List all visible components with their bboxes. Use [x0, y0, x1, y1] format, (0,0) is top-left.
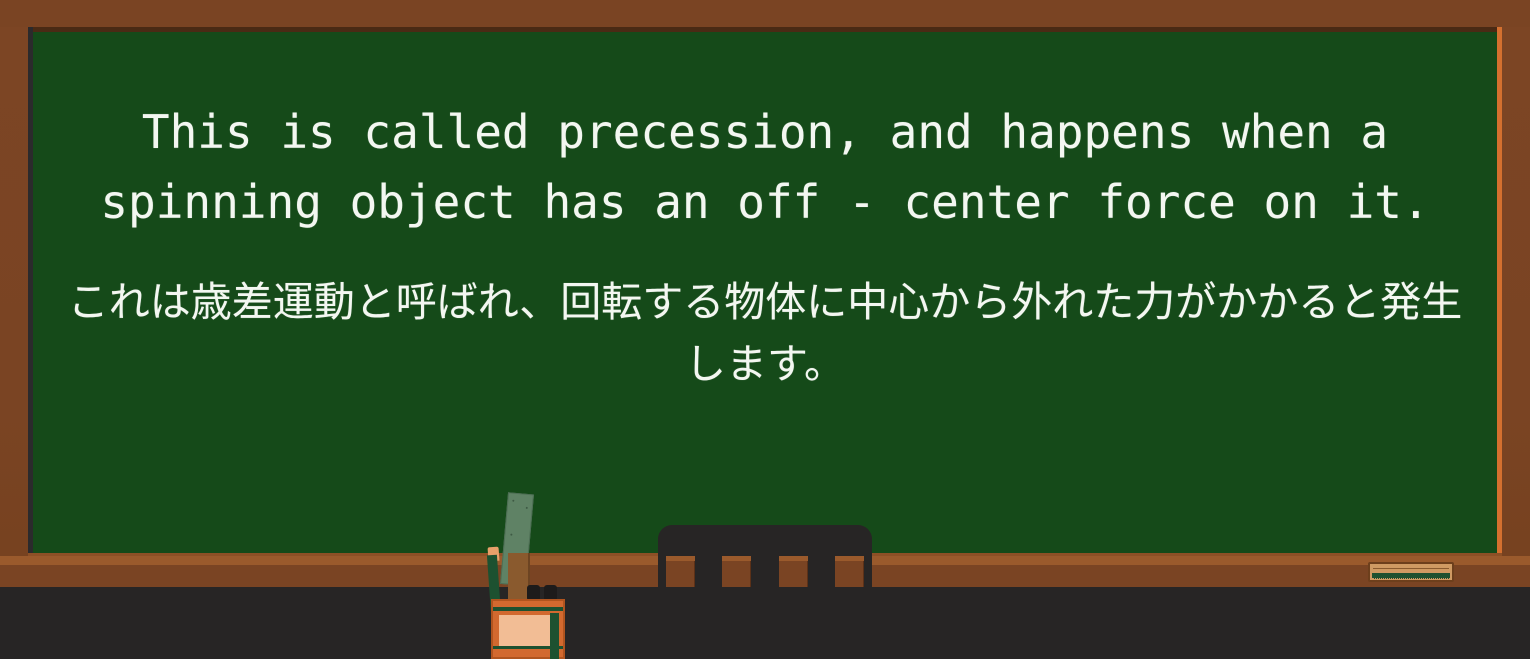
cup-label-panel	[499, 615, 555, 649]
pencil-cup	[491, 599, 565, 659]
english-caption: This is called precession, and happens w…	[63, 97, 1467, 237]
cup-side-stripe	[550, 613, 559, 659]
japanese-caption: これは歳差運動と呼ばれ、回転する物体に中心から外れた力がかかると発生します。	[63, 271, 1467, 395]
board-bevel-right	[1497, 27, 1502, 556]
ruler-mark	[510, 534, 512, 536]
chair-lower-body	[658, 587, 872, 659]
chair-slat-gap	[835, 556, 864, 587]
frame-top-rail	[0, 0, 1530, 27]
cup-band	[493, 646, 563, 649]
chair-slat-gaps	[658, 556, 872, 587]
chalkboard-eraser	[1368, 562, 1454, 582]
chalkboard[interactable]: This is called precession, and happens w…	[28, 27, 1502, 556]
chalkboard-scene: This is called precession, and happens w…	[0, 0, 1530, 659]
eraser-felt	[1372, 573, 1450, 579]
chair-slat-gap	[666, 556, 695, 587]
cup-band	[493, 607, 563, 611]
caption-spacer	[63, 237, 1467, 271]
ruler-mark	[526, 507, 528, 509]
chair-slat-gap	[722, 556, 751, 587]
chair-slat-gap	[779, 556, 808, 587]
desk-supplies	[480, 493, 576, 659]
chalkboard-text-area: This is called precession, and happens w…	[33, 32, 1497, 551]
eraser-seam	[1373, 568, 1449, 569]
ruler-mark	[512, 500, 514, 502]
